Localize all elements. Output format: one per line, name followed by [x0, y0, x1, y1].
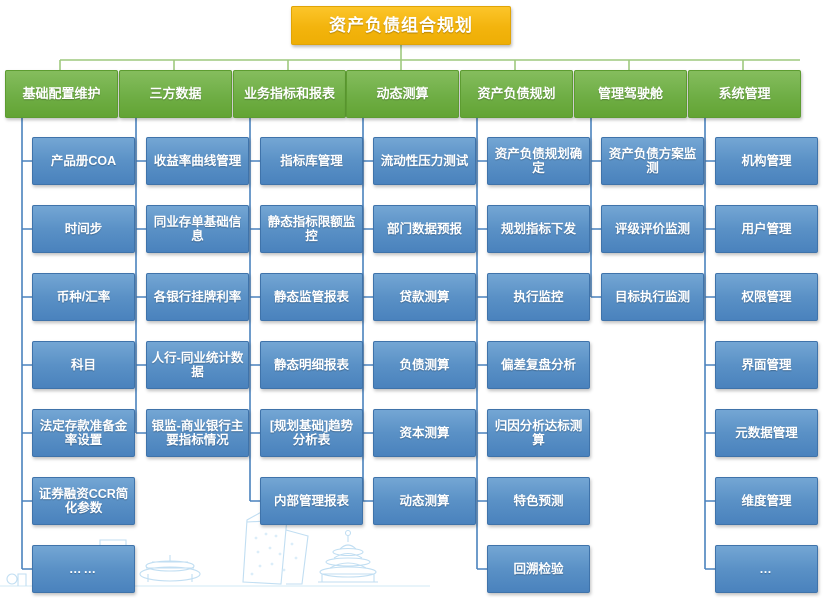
node-col-3-item-1[interactable]: 指标库管理 — [260, 137, 363, 185]
node-col-1-item-7[interactable]: …… — [32, 545, 135, 593]
node-col-1-item-1[interactable]: 产品册COA — [32, 137, 135, 185]
node-col-1-item-6[interactable]: 证券融资CCR简化参数 — [32, 477, 135, 525]
node-col-6-item-1[interactable]: 资产负债方案监测 — [601, 137, 704, 185]
node-col-4-item-1[interactable]: 流动性压力测试 — [373, 137, 476, 185]
node-col-5-item-3[interactable]: 执行监控 — [487, 273, 590, 321]
node-col-1-item-5[interactable]: 法定存款准备金率设置 — [32, 409, 135, 457]
node-col-6-item-2[interactable]: 评级评价监测 — [601, 205, 704, 253]
node-col-7-item-6[interactable]: 维度管理 — [715, 477, 818, 525]
node-col-1-item-3[interactable]: 币种/汇率 — [32, 273, 135, 321]
node-col-4-item-5[interactable]: 资本测算 — [373, 409, 476, 457]
node-col-2-item-1[interactable]: 收益率曲线管理 — [146, 137, 249, 185]
node-col-3-item-6[interactable]: 内部管理报表 — [260, 477, 363, 525]
node-col-3-item-2[interactable]: 静态指标限额监控 — [260, 205, 363, 253]
node-col-7-item-7[interactable]: … — [715, 545, 818, 593]
node-col-1-item-4[interactable]: 科目 — [32, 341, 135, 389]
node-col-5-item-6[interactable]: 特色预测 — [487, 477, 590, 525]
node-col-5-item-7[interactable]: 回溯检验 — [487, 545, 590, 593]
node-col-7-item-3[interactable]: 权限管理 — [715, 273, 818, 321]
org-chart-canvas: 资产负债组合规划 基础配置维护 产品册COA 时间步 币种/汇率 科目 法定存款… — [0, 0, 826, 598]
group-header-col-7[interactable]: 系统管理 — [688, 70, 801, 118]
node-col-3-item-5[interactable]: [规划基础]趋势分析表 — [260, 409, 363, 457]
group-header-col-4[interactable]: 动态测算 — [346, 70, 459, 118]
node-col-2-item-5[interactable]: 银监-商业银行主要指标情况 — [146, 409, 249, 457]
node-col-2-item-4[interactable]: 人行-同业统计数据 — [146, 341, 249, 389]
node-col-5-item-5[interactable]: 归因分析达标测算 — [487, 409, 590, 457]
group-header-col-1[interactable]: 基础配置维护 — [5, 70, 118, 118]
node-col-7-item-1[interactable]: 机构管理 — [715, 137, 818, 185]
node-col-4-item-3[interactable]: 贷款测算 — [373, 273, 476, 321]
group-header-col-2[interactable]: 三方数据 — [119, 70, 232, 118]
node-col-3-item-4[interactable]: 静态明细报表 — [260, 341, 363, 389]
group-header-col-5[interactable]: 资产负债规划 — [460, 70, 573, 118]
node-col-5-item-1[interactable]: 资产负债规划确定 — [487, 137, 590, 185]
node-col-7-item-5[interactable]: 元数据管理 — [715, 409, 818, 457]
node-col-6-item-3[interactable]: 目标执行监测 — [601, 273, 704, 321]
node-col-7-item-4[interactable]: 界面管理 — [715, 341, 818, 389]
node-col-7-item-2[interactable]: 用户管理 — [715, 205, 818, 253]
node-col-4-item-2[interactable]: 部门数据预报 — [373, 205, 476, 253]
node-col-2-item-3[interactable]: 各银行挂牌利率 — [146, 273, 249, 321]
node-col-4-item-4[interactable]: 负债测算 — [373, 341, 476, 389]
root-node[interactable]: 资产负债组合规划 — [291, 6, 511, 45]
node-col-5-item-4[interactable]: 偏差复盘分析 — [487, 341, 590, 389]
node-col-5-item-2[interactable]: 规划指标下发 — [487, 205, 590, 253]
group-header-col-6[interactable]: 管理驾驶舱 — [574, 70, 687, 118]
group-header-col-3[interactable]: 业务指标和报表 — [233, 70, 346, 118]
node-col-4-item-6[interactable]: 动态测算 — [373, 477, 476, 525]
node-col-2-item-2[interactable]: 同业存单基础信息 — [146, 205, 249, 253]
node-col-3-item-3[interactable]: 静态监管报表 — [260, 273, 363, 321]
node-col-1-item-2[interactable]: 时间步 — [32, 205, 135, 253]
